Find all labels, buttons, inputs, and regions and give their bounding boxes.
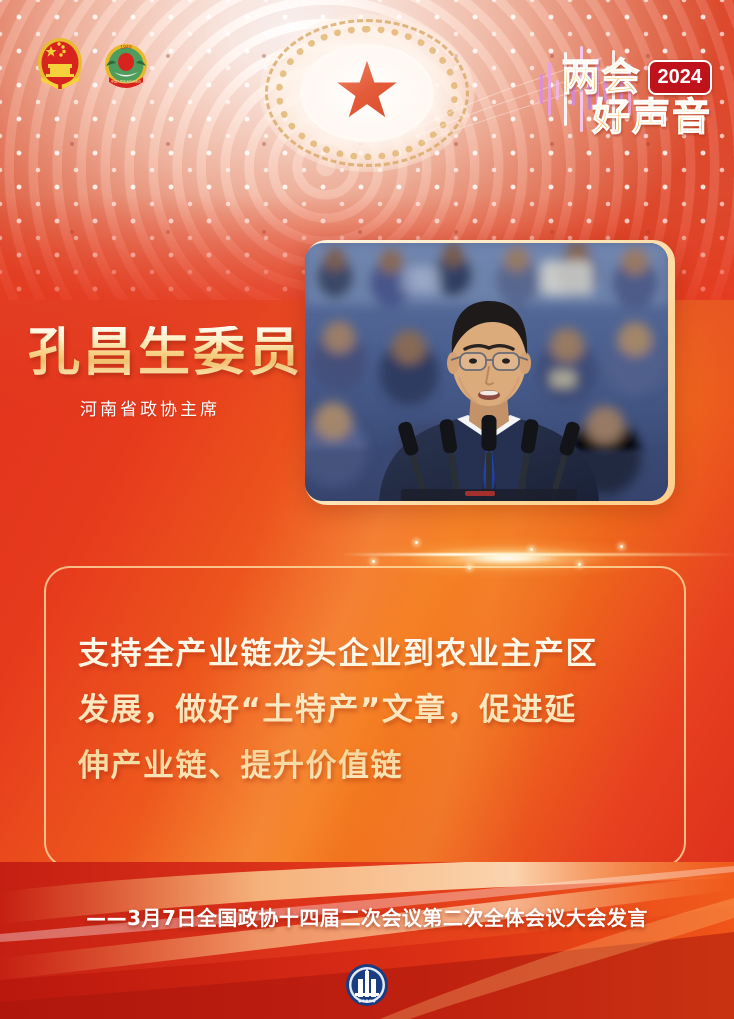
svg-text:●●●●●: ●●●●●: [358, 998, 376, 1003]
sparkle-dot: [415, 541, 418, 544]
brand-line-1: 两会: [561, 58, 641, 96]
svg-text:1949: 1949: [120, 45, 132, 51]
subject-name-block: 孔昌生委员 河南省政协主席: [28, 326, 328, 420]
svg-text:中国人民政治协商会议: 中国人民政治协商会议: [111, 79, 141, 84]
light-flare-streak: [340, 553, 734, 556]
quote-line: 发展，做好“土特产”文章，促进延: [78, 682, 658, 738]
year-badge: 2024: [648, 60, 713, 95]
quote-line: 支持全产业链龙头企业到农业主产区: [78, 626, 658, 682]
caption-text: ——3月7日全国政协十四届二次会议第二次全体会议大会发言: [0, 902, 734, 931]
page-title: 孔昌生委员: [28, 326, 328, 381]
cppcc-emblem-icon: 中国人民政治协商会议 1949: [100, 36, 152, 96]
emblem-group: 中国人民政治协商会议 1949: [34, 36, 152, 96]
national-emblem-of-china-icon: [34, 36, 86, 96]
publisher-emblem-icon: ●●●●●: [345, 963, 389, 1007]
sparkle-dot: [372, 560, 375, 563]
photo-illustration: [305, 243, 668, 501]
subject-role: 河南省政协主席: [80, 395, 328, 420]
subject-photo: [305, 243, 668, 501]
quote-line: 伸产业链、提升价值链: [78, 738, 658, 794]
quote-text: 支持全产业链龙头企业到农业主产区 发展，做好“土特产”文章，促进延 伸产业链、提…: [78, 626, 658, 794]
brand-line-2: 好声音: [592, 98, 712, 136]
sparkle-dot: [530, 548, 533, 551]
brand-lockup: 两会 2024 好声音: [536, 58, 712, 136]
sparkle-dot: [620, 545, 623, 548]
poster-root: 中国人民政治协商会议 1949 两会 2024 好声音: [0, 0, 734, 1019]
